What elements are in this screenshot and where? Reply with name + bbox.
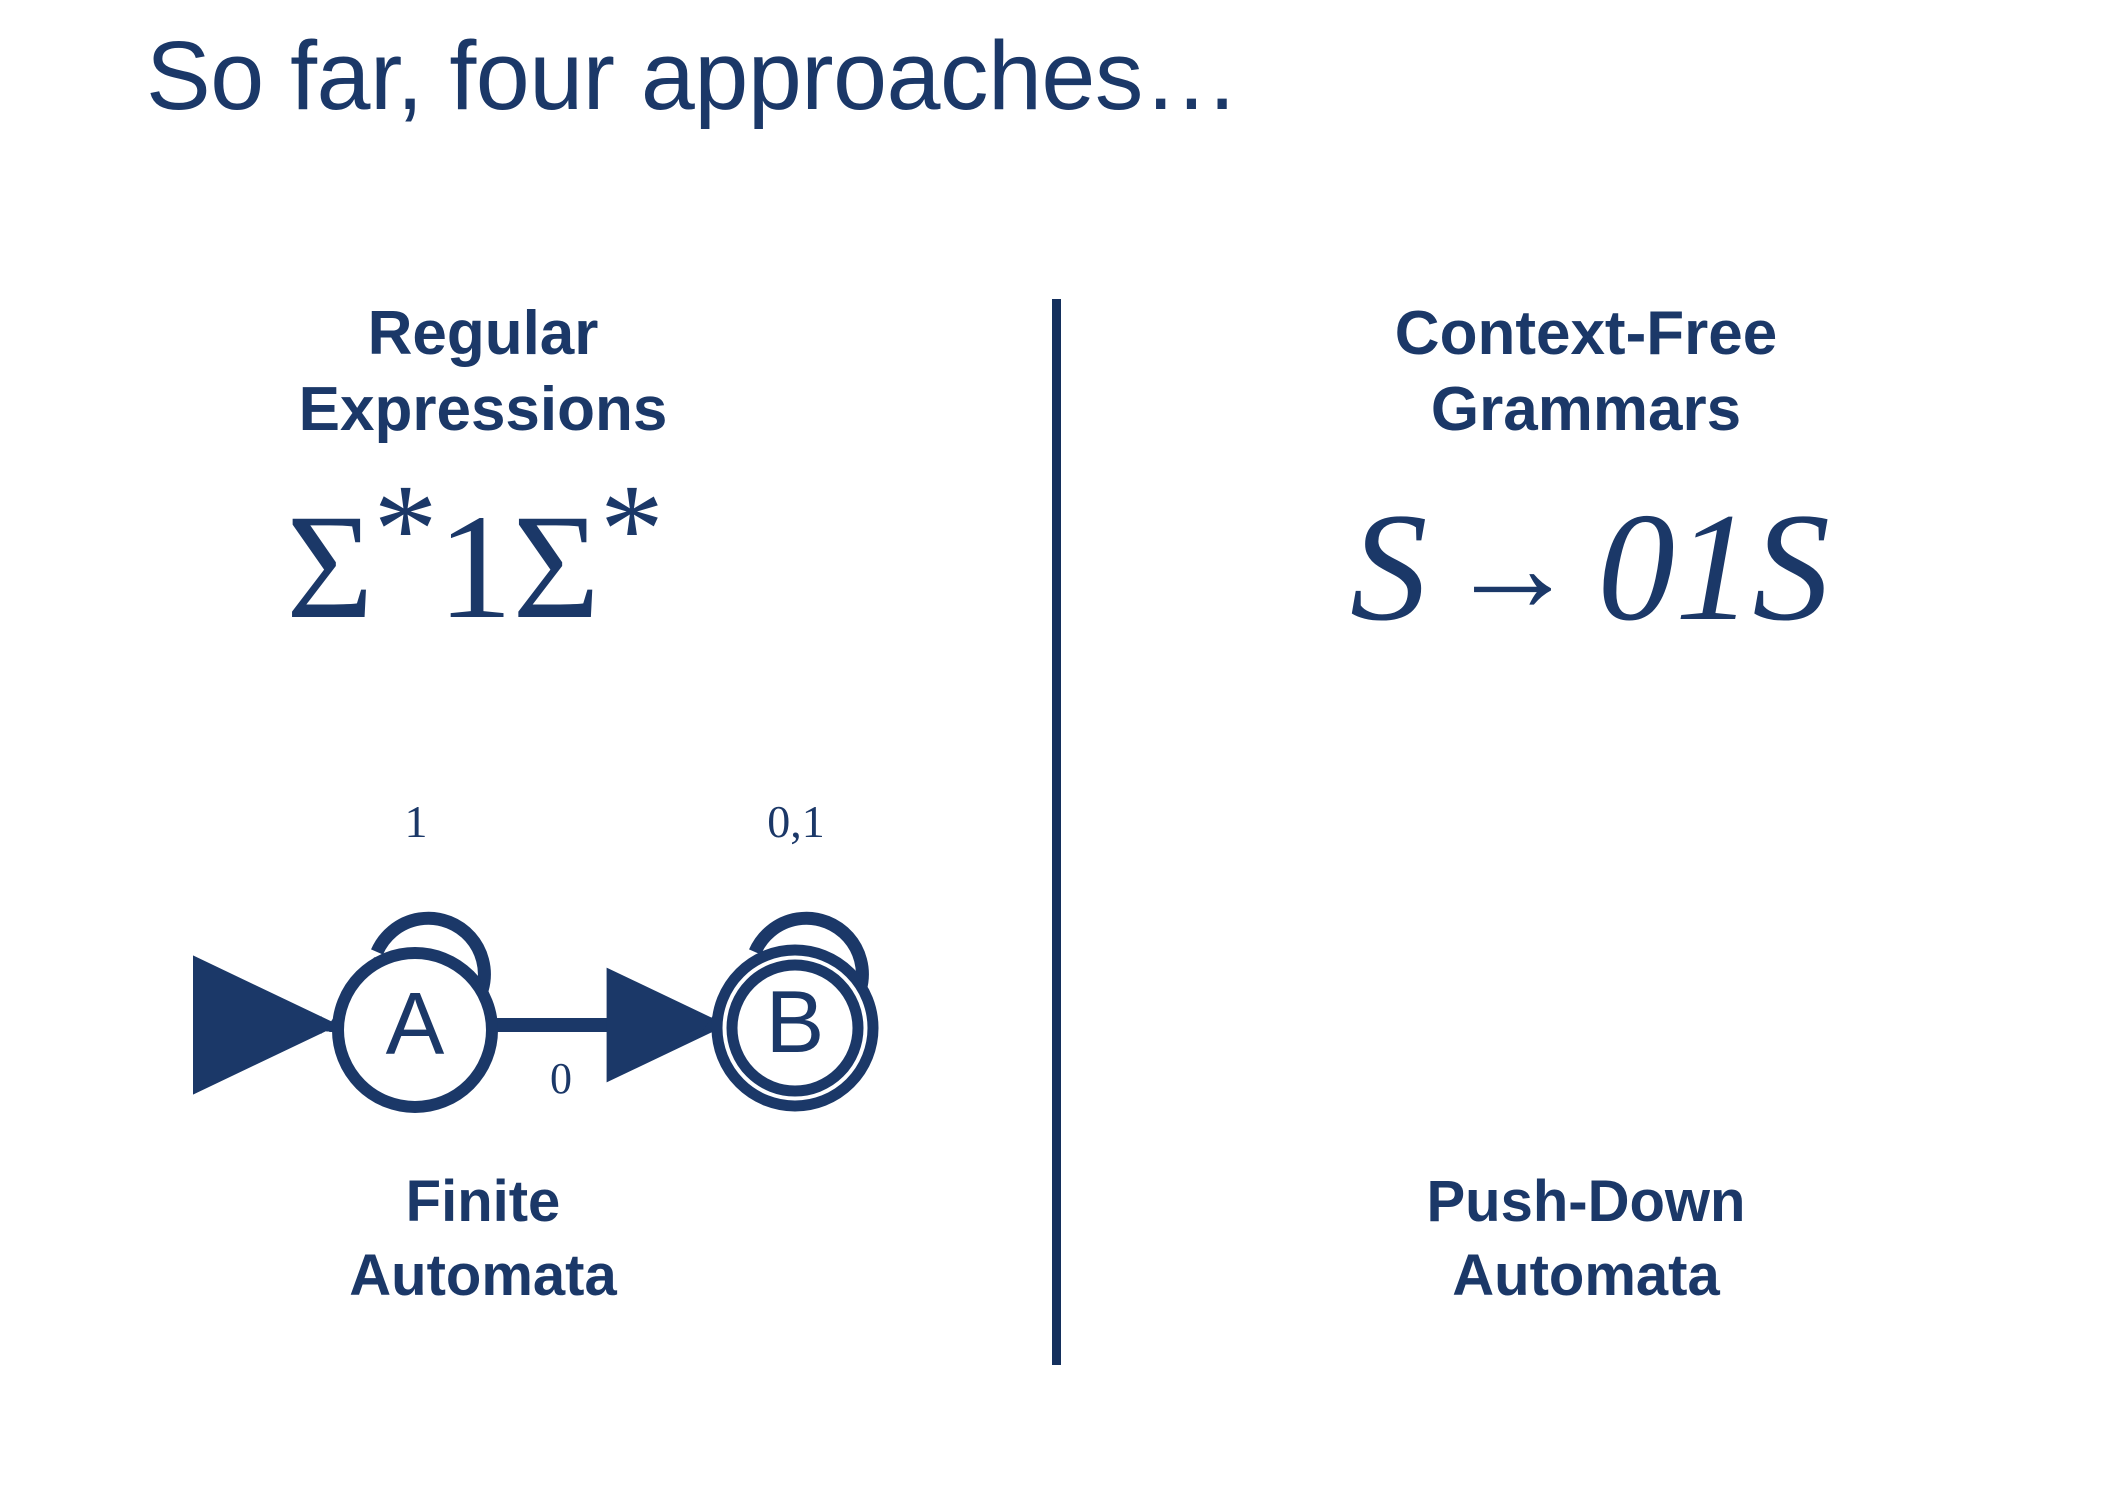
column-header-regular: Regular Expressions [0,296,983,447]
column-footer-line-1: Push-Down [1086,1165,2086,1239]
column-footer-push-down-automata: Push-Down Automata [1086,1165,2086,1313]
column-header-line-1: Regular [0,296,983,372]
cfg-arrow-icon: → [1428,496,1598,640]
column-footer-finite-automata: Finite Automata [0,1165,983,1313]
cfg-lhs: S [1350,481,1428,653]
column-header-line-2: Expressions [0,372,983,448]
column-footer-line-2: Automata [1086,1239,2086,1313]
regex-formula: Σ*1Σ* [0,492,975,642]
self-loop-label-b: 0,1 [767,796,825,847]
regex-sigma-2: Σ [513,484,600,650]
slide-canvas: So far, four approaches… Regular Express… [0,0,2103,1502]
finite-automaton-diagram: 0 1 0,1 A B [130,770,950,1175]
state-label-b: B [766,972,825,1071]
cfg-formula: S→01S [1090,490,2090,645]
column-footer-line-1: Finite [0,1165,983,1239]
column-header-line-2: Grammars [1086,372,2086,448]
cfg-rhs: 01S [1598,481,1831,653]
regex-sigma-1: Σ [286,484,373,650]
column-context-free-grammars: Context-Free Grammars S→01S [1090,0,2090,1502]
column-header-context-free: Context-Free Grammars [1086,296,2086,447]
transition-label-a-to-b: 0 [550,1054,572,1103]
column-divider [1052,299,1061,1365]
column-header-line-1: Context-Free [1086,296,2086,372]
regex-literal-one: 1 [438,484,513,650]
column-footer-line-2: Automata [0,1239,983,1313]
column-regular-expressions: Regular Expressions Σ*1Σ* [30,0,1030,1502]
regex-star-2: * [600,458,664,600]
regex-star-1: * [374,458,438,600]
self-loop-label-a: 1 [405,796,428,847]
state-label-a: A [386,974,445,1073]
